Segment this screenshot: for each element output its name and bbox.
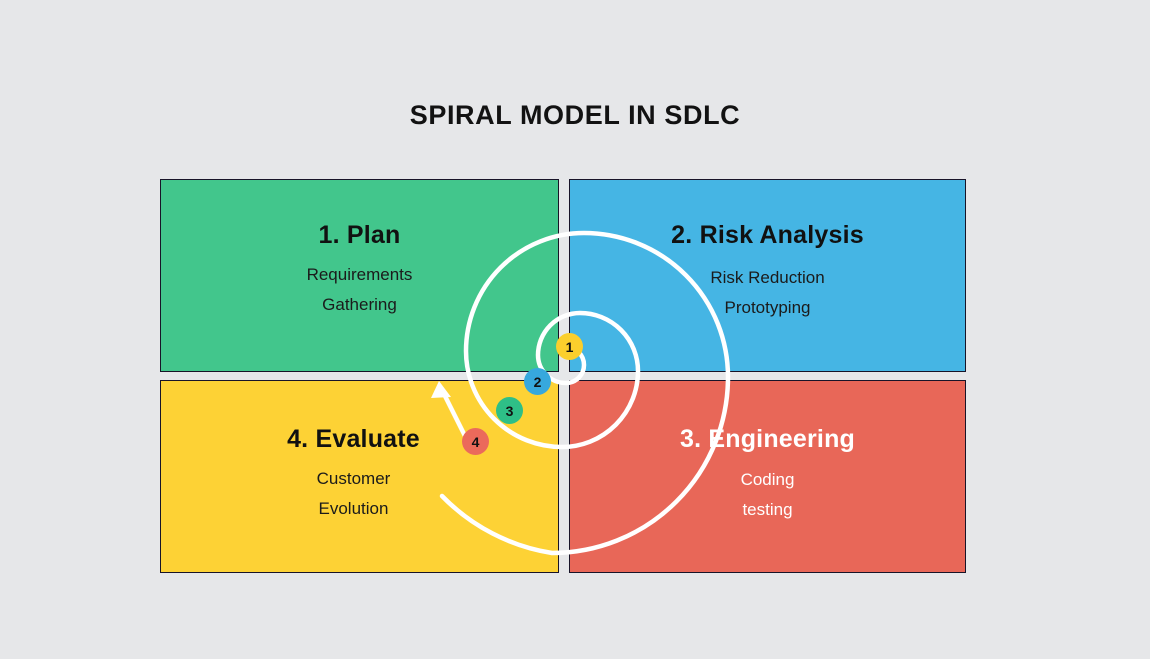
quadrant-risk-analysis-heading: 2. Risk Analysis	[671, 221, 864, 250]
quadrant-risk-analysis[interactable]: 2. Risk Analysis Risk Reduction Prototyp…	[569, 179, 966, 372]
quadrant-plan-subtitle: Requirements Gathering	[307, 260, 413, 320]
marker-3-label: 3	[506, 403, 514, 419]
quadrant-plan-sub-line2: Gathering	[307, 290, 413, 320]
marker-4[interactable]: 4	[462, 428, 489, 455]
quadrant-risk-analysis-subtitle: Risk Reduction Prototyping	[710, 263, 824, 323]
quadrant-evaluate-subtitle: Customer Evolution	[317, 464, 391, 524]
marker-2-label: 2	[534, 374, 542, 390]
quadrant-plan[interactable]: 1. Plan Requirements Gathering	[160, 179, 559, 372]
quadrant-plan-heading: 1. Plan	[318, 221, 400, 250]
marker-3[interactable]: 3	[496, 397, 523, 424]
marker-4-label: 4	[472, 434, 480, 450]
quadrant-risk-analysis-sub-line2: Prototyping	[710, 293, 824, 323]
marker-1-label: 1	[566, 339, 574, 355]
quadrant-plan-text: 1. Plan Requirements Gathering	[307, 221, 413, 320]
quadrant-engineering-sub-line2: testing	[741, 495, 795, 525]
quadrant-evaluate-text: 4. Evaluate Customer Evolution	[287, 425, 420, 524]
marker-2[interactable]: 2	[524, 368, 551, 395]
page-title: SPIRAL MODEL IN SDLC	[0, 100, 1150, 131]
quadrant-grid: 1. Plan Requirements Gathering 2. Risk A…	[160, 179, 966, 573]
quadrant-risk-analysis-text: 2. Risk Analysis Risk Reduction Prototyp…	[671, 221, 864, 323]
quadrant-engineering-heading: 3. Engineering	[680, 425, 855, 454]
marker-1[interactable]: 1	[556, 333, 583, 360]
quadrant-plan-sub-line1: Requirements	[307, 260, 413, 290]
quadrant-engineering-text: 3. Engineering Coding testing	[680, 425, 855, 525]
quadrant-risk-analysis-sub-line1: Risk Reduction	[710, 263, 824, 293]
diagram-canvas: SPIRAL MODEL IN SDLC 1. Plan Requirement…	[0, 0, 1150, 659]
quadrant-evaluate-sub-line1: Customer	[317, 464, 391, 494]
quadrant-evaluate-heading: 4. Evaluate	[287, 425, 420, 454]
quadrant-engineering-sub-line1: Coding	[741, 465, 795, 495]
quadrant-evaluate-sub-line2: Evolution	[317, 494, 391, 524]
quadrant-engineering-subtitle: Coding testing	[741, 465, 795, 525]
quadrant-engineering[interactable]: 3. Engineering Coding testing	[569, 380, 966, 573]
